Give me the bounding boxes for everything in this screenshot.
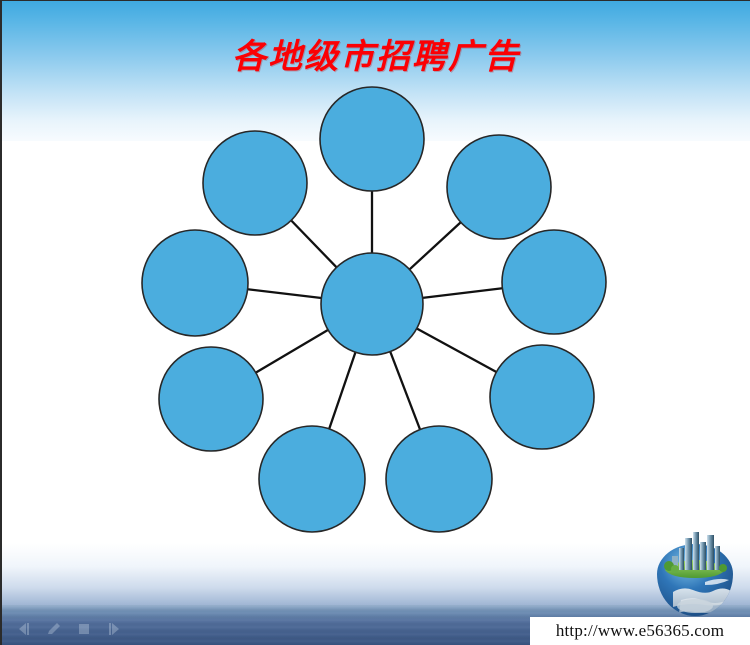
- diagram-nodes: [142, 87, 606, 532]
- watermark-url: http://www.e56365.com: [556, 621, 724, 641]
- stop-square-icon[interactable]: [76, 621, 92, 637]
- globe-city-logo: [647, 526, 743, 618]
- spoke-line-2: [410, 222, 461, 269]
- satellite-node-bottom-right[interactable]: [490, 345, 594, 449]
- satellite-node-bottom-left[interactable]: [259, 426, 365, 532]
- satellite-node-left-upper[interactable]: [142, 230, 248, 336]
- spoke-line-9: [291, 220, 336, 267]
- previous-icon[interactable]: [16, 621, 32, 637]
- satellite-node-top-left[interactable]: [203, 131, 307, 235]
- next-icon[interactable]: [106, 621, 122, 637]
- spoke-line-4: [417, 328, 497, 372]
- edit-pencil-icon[interactable]: [46, 621, 62, 637]
- spoke-line-3: [423, 288, 503, 298]
- radial-diagram: [2, 1, 750, 645]
- spoke-line-6: [329, 352, 355, 429]
- spoke-line-7: [256, 330, 328, 373]
- spoke-line-5: [390, 352, 420, 430]
- spoke-line-8: [248, 289, 322, 298]
- watermark-bar: http://www.e56365.com: [530, 617, 750, 645]
- satellite-node-top[interactable]: [320, 87, 424, 191]
- center-node[interactable]: [321, 253, 423, 355]
- water-control-icons: [16, 621, 122, 637]
- page-title: 各地级市招聘广告: [2, 29, 750, 78]
- slide-canvas: 各地级市招聘广告: [0, 0, 750, 645]
- satellite-node-top-right[interactable]: [447, 135, 551, 239]
- satellite-node-right[interactable]: [502, 230, 606, 334]
- city-skyline-icon: [672, 532, 720, 570]
- satellite-node-bottom[interactable]: [386, 426, 492, 532]
- satellite-node-left-lower[interactable]: [159, 347, 263, 451]
